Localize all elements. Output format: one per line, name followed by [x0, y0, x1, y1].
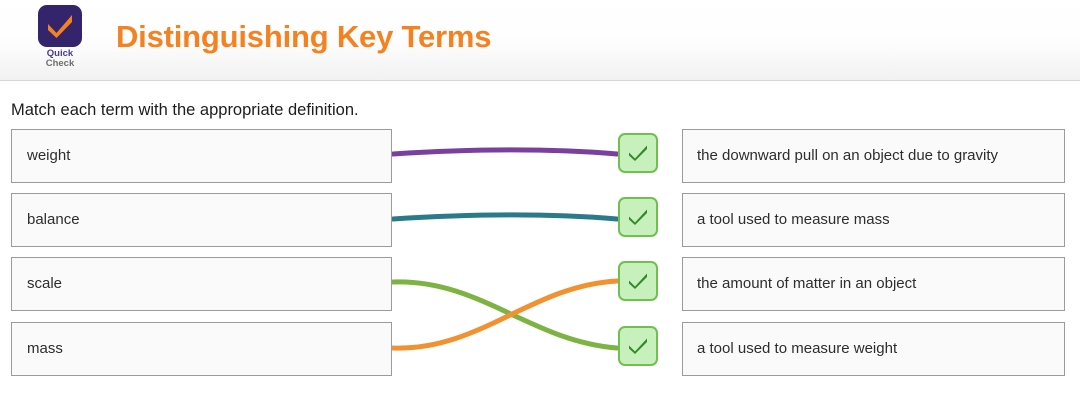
connector-weight — [393, 150, 617, 154]
correct-badge[interactable] — [618, 326, 658, 366]
logo-caption: Quick Check — [29, 49, 91, 70]
definition-text: the amount of matter in an object — [697, 274, 916, 293]
instruction-text: Match each term with the appropriate def… — [11, 101, 359, 120]
connector-scale — [393, 282, 617, 348]
correct-badge[interactable] — [618, 261, 658, 301]
term-label: scale — [27, 274, 62, 293]
correct-badge[interactable] — [618, 197, 658, 237]
term-label: weight — [27, 146, 70, 165]
term-card[interactable]: weight — [11, 129, 392, 183]
definition-text: the downward pull on an object due to gr… — [697, 146, 998, 165]
term-card[interactable]: balance — [11, 193, 392, 247]
logo-caption-check: Check — [29, 59, 91, 69]
logo-tile — [38, 5, 82, 47]
definition-card[interactable]: a tool used to measure weight — [682, 322, 1065, 376]
quick-check-logo: Quick Check — [29, 5, 91, 70]
connector-mass — [393, 281, 617, 348]
check-mark-icon — [45, 13, 75, 39]
term-label: balance — [27, 210, 80, 229]
definition-text: a tool used to measure weight — [697, 339, 897, 358]
check-mark-icon — [627, 208, 649, 226]
definition-card[interactable]: the amount of matter in an object — [682, 257, 1065, 311]
page-header: Quick Check Distinguishing Key Terms — [0, 0, 1080, 81]
quick-check-matching-activity: Quick Check Distinguishing Key Terms Mat… — [0, 0, 1080, 403]
definition-card[interactable]: a tool used to measure mass — [682, 193, 1065, 247]
definition-card[interactable]: the downward pull on an object due to gr… — [682, 129, 1065, 183]
term-card[interactable]: scale — [11, 257, 392, 311]
term-card[interactable]: mass — [11, 322, 392, 376]
check-mark-icon — [627, 144, 649, 162]
page-title: Distinguishing Key Terms — [116, 19, 491, 55]
term-label: mass — [27, 339, 63, 358]
check-mark-icon — [627, 272, 649, 290]
matching-area: weight balance scale mass — [0, 129, 1080, 379]
check-mark-icon — [627, 337, 649, 355]
connector-balance — [393, 215, 617, 219]
correct-badge[interactable] — [618, 133, 658, 173]
definition-text: a tool used to measure mass — [697, 210, 890, 229]
